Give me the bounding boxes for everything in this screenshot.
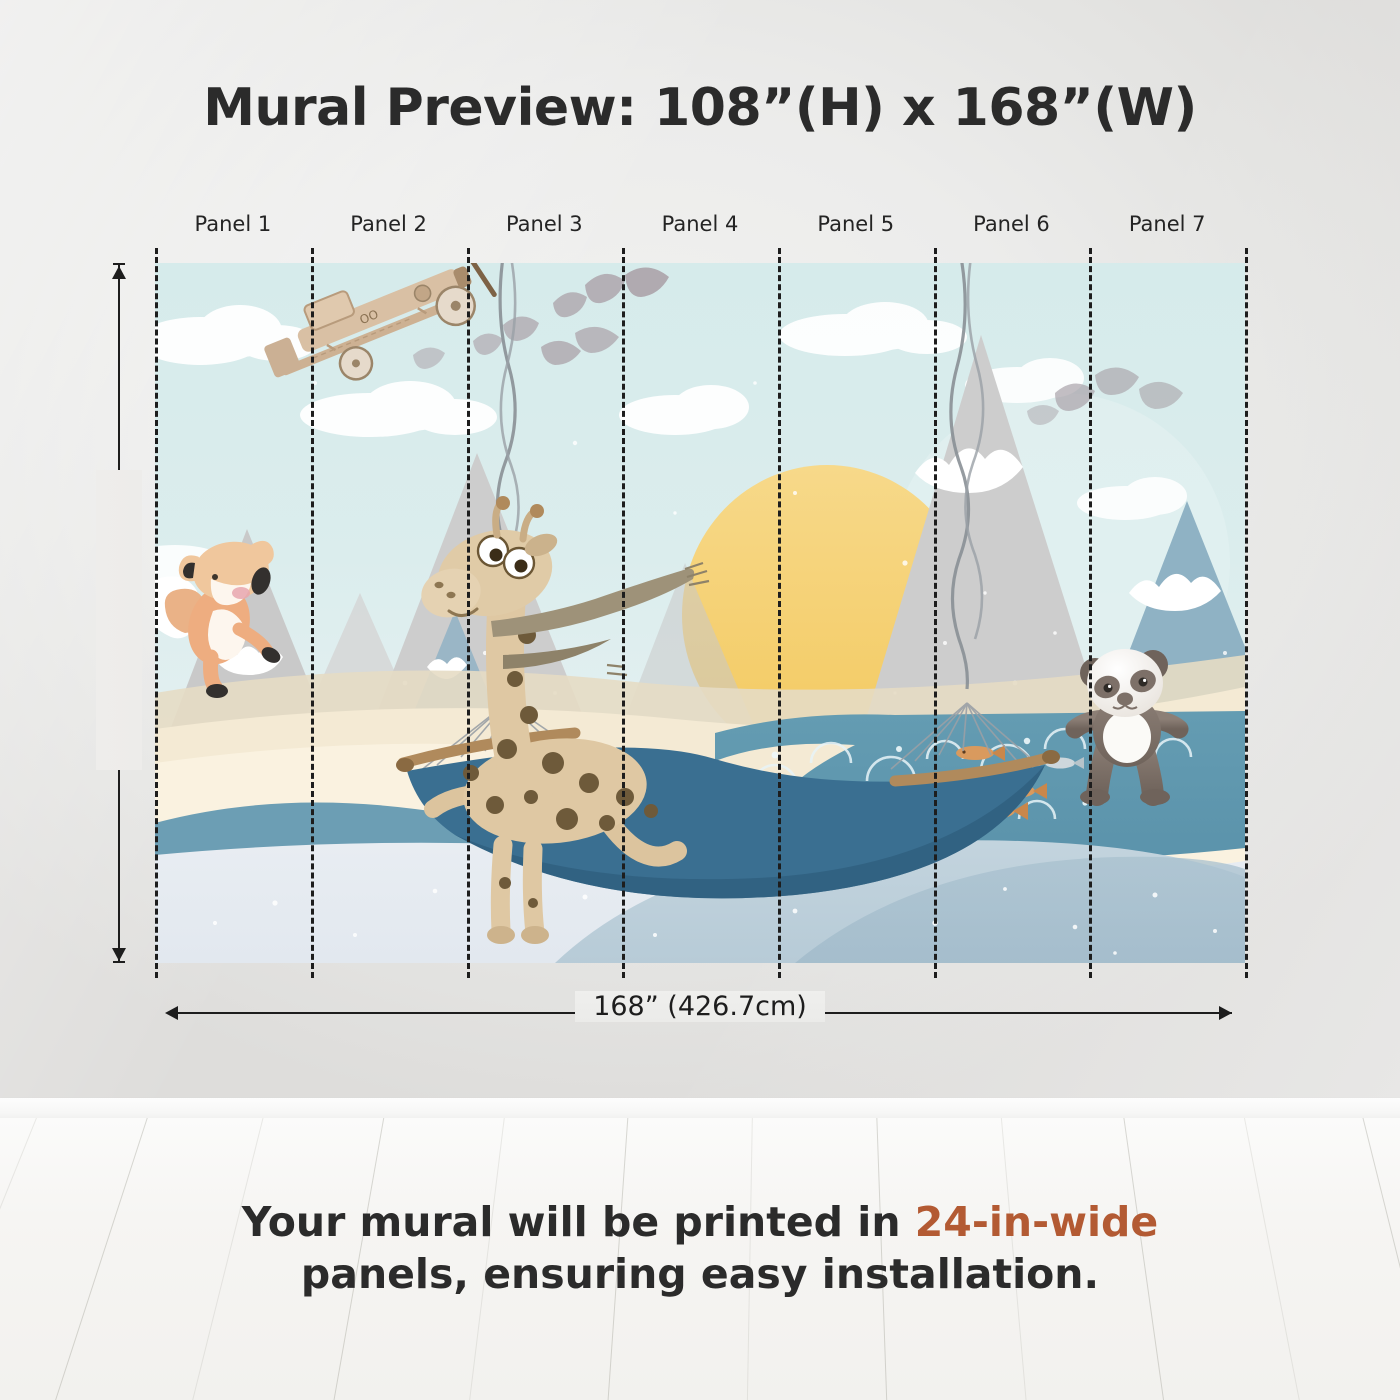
panel-label-row: Panel 1 Panel 2 Panel 3 Panel 4 Panel 5 … <box>155 212 1245 248</box>
caption-highlight: 24-in-wide <box>915 1198 1158 1246</box>
panel-label-5: Panel 5 <box>778 212 934 248</box>
mural-artwork: OO <box>155 263 1245 963</box>
cut-line-5 <box>934 248 937 978</box>
width-dimension-text: 168” (426.7cm) <box>575 991 825 1022</box>
mural-preview-page: Mural Preview: 108”(H) x 168”(W) Panel 1… <box>0 0 1400 1400</box>
cut-line-4 <box>778 248 781 978</box>
caption-line-1: Your mural will be printed in 24-in-wide <box>0 1196 1400 1248</box>
panel-label-4: Panel 4 <box>622 212 778 248</box>
panel-label-1: Panel 1 <box>155 212 311 248</box>
height-label-backdrop <box>96 470 142 770</box>
panel-label-2: Panel 2 <box>311 212 467 248</box>
cut-line-7 <box>1245 248 1248 978</box>
footer-caption: Your mural will be printed in 24-in-wide… <box>0 1196 1400 1301</box>
cut-line-0 <box>155 248 158 978</box>
height-arrow-down-icon <box>112 948 126 961</box>
cut-line-2 <box>467 248 470 978</box>
caption-text-before: Your mural will be printed in <box>242 1198 915 1246</box>
page-title: Mural Preview: 108”(H) x 168”(W) <box>0 78 1400 138</box>
panel-label-3: Panel 3 <box>466 212 622 248</box>
width-dimension-label: 168” (426.7cm) <box>0 991 1400 1022</box>
cut-line-6 <box>1089 248 1092 978</box>
cut-line-3 <box>622 248 625 978</box>
caption-line-2: panels, ensuring easy installation. <box>0 1248 1400 1300</box>
height-arrow-up-icon <box>112 266 126 279</box>
panel-label-7: Panel 7 <box>1089 212 1245 248</box>
cut-line-1 <box>311 248 314 978</box>
panel-label-6: Panel 6 <box>934 212 1090 248</box>
mural-svg: OO <box>155 263 1245 963</box>
